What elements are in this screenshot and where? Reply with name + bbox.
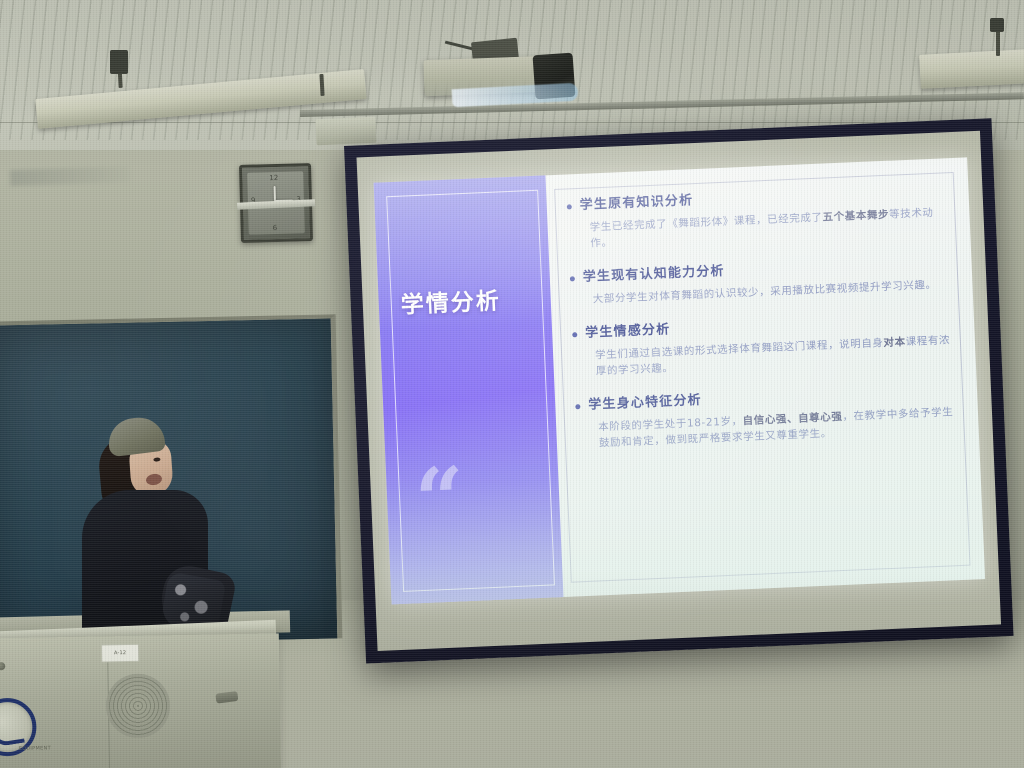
bullet-heading: 学生情感分析 <box>585 322 671 342</box>
bullet-heading: 学生现有认知能力分析 <box>583 264 726 286</box>
speaker-grille-icon <box>105 673 170 738</box>
light-junction-box-right <box>990 18 1004 32</box>
wall-clock: 12 3 6 9 <box>239 163 313 243</box>
bullet-subtext-prefix: 学生们通过自选课的形式选择体育舞蹈这门课程，说明自身 <box>595 337 884 361</box>
podium-label: A-12 <box>101 644 139 663</box>
emblem-glyph <box>0 709 25 748</box>
bullet-subtext-bold: 五个基本舞步 <box>822 209 889 224</box>
slide-content-panel: 学生原有知识分析 学生已经完成了《舞蹈形体》课程，已经完成了五个基本舞步等技术动… <box>545 157 985 597</box>
slide-title-panel-border <box>386 190 555 592</box>
bullet-item: 学生现有认知能力分析 大部分学生对体育舞蹈的认识较少，采用播放比赛视频提升学习兴… <box>570 254 955 308</box>
projection-screen: 学情分析 “ 学生原有知识分析 学生已经完成了《舞蹈形体》课程，已经完成了五个基… <box>344 118 1014 663</box>
bullet-heading: 学生身心特征分析 <box>588 393 702 414</box>
clock-number-6: 6 <box>273 224 278 232</box>
presenter-eye <box>153 457 160 461</box>
bullet-subtext-prefix: 本阶段的学生处于18-21岁， <box>598 415 743 433</box>
bullet-subtext-bold: 对本 <box>883 336 906 349</box>
bullet-item: 学生情感分析 学生们通过自选课的形式选择体育舞蹈这门课程，说明自身对本课程有浓厚… <box>572 310 958 380</box>
presenter-beanie <box>106 415 166 458</box>
bullet-subtext-bold: 自信心强、自尊心强 <box>742 411 842 427</box>
bullet-heading: 学生原有知识分析 <box>579 193 693 214</box>
bullet-dot-icon <box>570 276 575 281</box>
bullet-dot-icon <box>572 332 577 337</box>
screen-canvas: 学情分析 “ 学生原有知识分析 学生已经完成了《舞蹈形体》课程，已经完成了五个基… <box>357 131 1002 651</box>
podium: A-12 EQUIPMENT <box>0 633 281 768</box>
bullet-subtext-prefix: 学生已经完成了《舞蹈形体》课程，已经完成了 <box>589 212 822 234</box>
fluorescent-light-right <box>919 49 1024 89</box>
slide-title: 学情分析 <box>400 279 551 319</box>
bullet-dot-icon <box>567 204 572 209</box>
slide-title-panel: 学情分析 “ <box>374 175 564 604</box>
projected-slide: 学情分析 “ 学生原有知识分析 学生已经完成了《舞蹈形体》课程，已经完成了五个基… <box>374 157 985 604</box>
podium-small-text: EQUIPMENT <box>19 745 51 752</box>
bullet-item: 学生身心特征分析 本阶段的学生处于18-21岁，自信心强、自尊心强，在教学中多给… <box>575 382 961 452</box>
classroom-photo: 12 3 6 9 A-12 EQUIPMENT <box>0 0 1024 768</box>
bullet-subtext-suffix: 习兴趣。 <box>892 279 937 293</box>
presenter <box>78 418 238 648</box>
bullet-subtext-prefix: 大部分学生对体育舞蹈的认识较少，采用播放比赛视频提升学 <box>593 281 893 306</box>
podium-handle[interactable] <box>215 691 238 704</box>
projection-screen-housing <box>315 117 376 146</box>
slide-bullet-list: 学生原有知识分析 学生已经完成了《舞蹈形体》课程，已经完成了五个基本舞步等技术动… <box>566 182 961 470</box>
quotation-mark-icon: “ <box>414 471 466 529</box>
bullet-dot-icon <box>575 404 580 409</box>
ceiling-projector <box>424 40 584 100</box>
clock-number-12: 12 <box>269 174 278 182</box>
light-junction-box <box>110 50 128 74</box>
